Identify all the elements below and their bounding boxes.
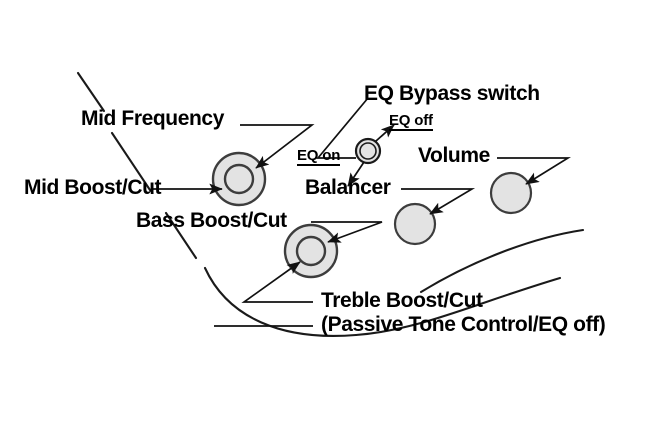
label-treble-boost-cut: Treble Boost/Cut: [321, 289, 483, 314]
label-mid-frequency: Mid Frequency: [81, 108, 224, 131]
bass-treble-knob[interactable]: [285, 225, 337, 277]
control-layout-diagram: Mid Frequency Mid Boost/Cut Bass Boost/C…: [0, 0, 650, 440]
label-volume: Volume: [418, 145, 490, 168]
mid-frequency-knob[interactable]: [213, 153, 265, 205]
eq-bypass-switch[interactable]: [356, 139, 380, 163]
label-passive-tone-control: (Passive Tone Control/EQ off): [321, 313, 605, 338]
volume-knob[interactable]: [491, 173, 531, 213]
body-edge-upper-left: [78, 73, 104, 111]
label-bass-boost-cut: Bass Boost/Cut: [136, 210, 287, 233]
label-eq-on: EQ on: [297, 148, 340, 166]
label-balancer: Balancer: [305, 177, 391, 200]
label-eq-off: EQ off: [389, 113, 433, 131]
label-eq-bypass-switch: EQ Bypass switch: [364, 83, 540, 106]
diagram-artwork: [0, 0, 650, 440]
body-curve-right: [421, 230, 583, 292]
balancer-knob[interactable]: [395, 204, 435, 244]
label-mid-boost-cut: Mid Boost/Cut: [24, 177, 161, 200]
